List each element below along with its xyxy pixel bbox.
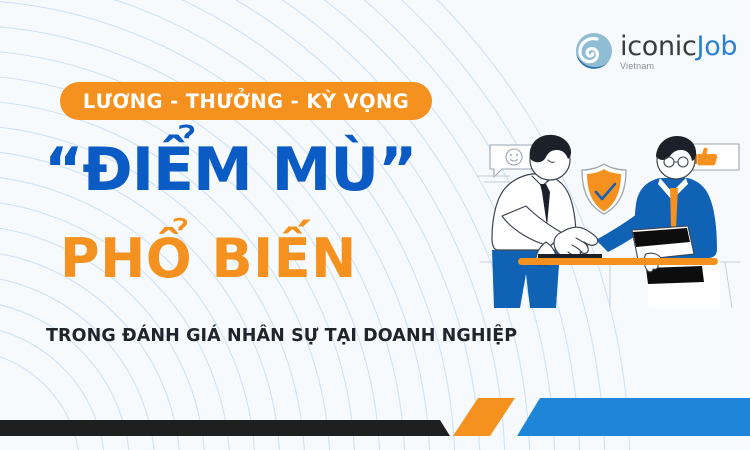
topic-badge: LƯƠNG - THƯỞNG - KỲ VỌNG — [60, 82, 432, 120]
topic-badge-label: LƯƠNG - THƯỞNG - KỲ VỌNG — [83, 90, 409, 113]
handshake-illustration — [470, 112, 750, 308]
headline-line2: PHỔ BIẾN — [60, 232, 357, 286]
logo-name-part2: Job — [697, 31, 738, 62]
bottom-decoration — [0, 398, 750, 450]
headline-subtitle: TRONG ĐÁNH GIÁ NHÂN SỰ TẠI DOANH NGHIỆP — [46, 326, 517, 346]
banner: iconicJob Vietnam LƯƠNG - THƯỞNG - KỲ VỌ… — [0, 0, 750, 450]
logo-tagline: Vietnam — [620, 62, 737, 71]
logo-name-part1: iconic — [620, 31, 697, 62]
headline-line1: “ĐIỂM MÙ” — [44, 140, 416, 200]
shield-check-icon — [582, 164, 626, 214]
globe-swirl-icon — [572, 30, 616, 74]
brand-logo[interactable]: iconicJob Vietnam — [572, 30, 737, 74]
bottom-blue-shape — [517, 398, 750, 436]
bottom-orange-shape — [453, 398, 515, 436]
bottom-dark-bar — [0, 420, 450, 436]
